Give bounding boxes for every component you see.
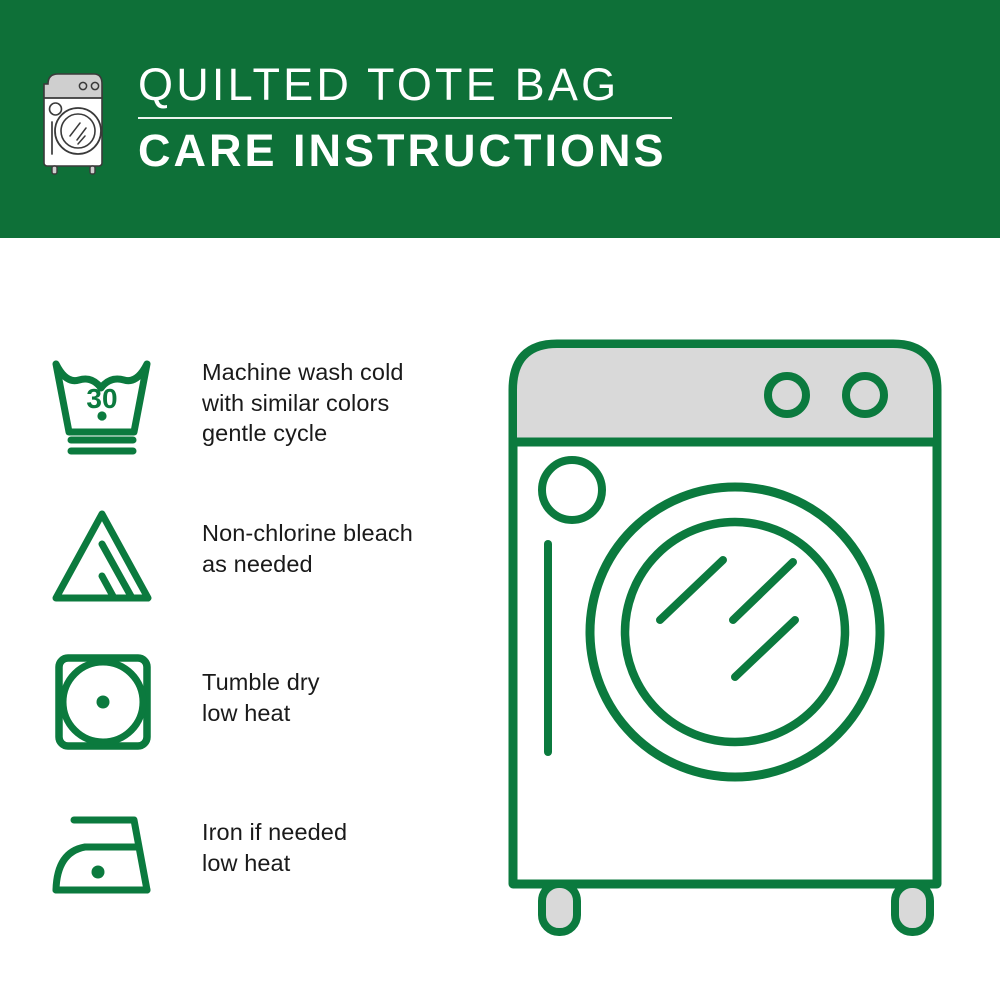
wash-basin-30-icon: 30 xyxy=(48,350,160,460)
care-instructions-page: QUILTED TOTE BAG CARE INSTRUCTIONS xyxy=(0,0,1000,1000)
page-title-secondary: CARE INSTRUCTIONS xyxy=(138,128,672,173)
leg-right xyxy=(895,884,930,932)
iron-icon xyxy=(48,806,160,916)
header-band: QUILTED TOTE BAG CARE INSTRUCTIONS xyxy=(0,0,1000,238)
wash-temperature-label: 30 xyxy=(86,383,117,414)
leg-left xyxy=(542,884,577,932)
care-item-machine-wash: 30 Machine wash cold with similar colors… xyxy=(48,340,478,490)
care-item-tumble-dry: Tumble dry low heat xyxy=(48,640,478,790)
washing-machine-illustration xyxy=(495,332,975,942)
care-item-text: Machine wash cold with similar colors ge… xyxy=(202,340,404,449)
tumble-dry-icon xyxy=(48,650,160,760)
header-content: QUILTED TOTE BAG CARE INSTRUCTIONS xyxy=(38,62,672,176)
care-item-text: Tumble dry low heat xyxy=(202,640,320,728)
washing-machine-icon xyxy=(38,68,112,176)
care-item-iron: Iron if needed low heat xyxy=(48,790,478,940)
care-instruction-list: 30 Machine wash cold with similar colors… xyxy=(48,340,478,940)
care-item-text: Non-chlorine bleach as needed xyxy=(202,490,413,579)
care-item-bleach: Non-chlorine bleach as needed xyxy=(48,490,478,640)
bleach-triangle-icon xyxy=(48,502,160,612)
title-divider xyxy=(138,117,672,119)
care-item-text: Iron if needed low heat xyxy=(202,790,347,878)
control-panel xyxy=(517,348,933,442)
page-title-primary: QUILTED TOTE BAG xyxy=(138,62,672,113)
header-titles: QUILTED TOTE BAG CARE INSTRUCTIONS xyxy=(138,62,672,173)
